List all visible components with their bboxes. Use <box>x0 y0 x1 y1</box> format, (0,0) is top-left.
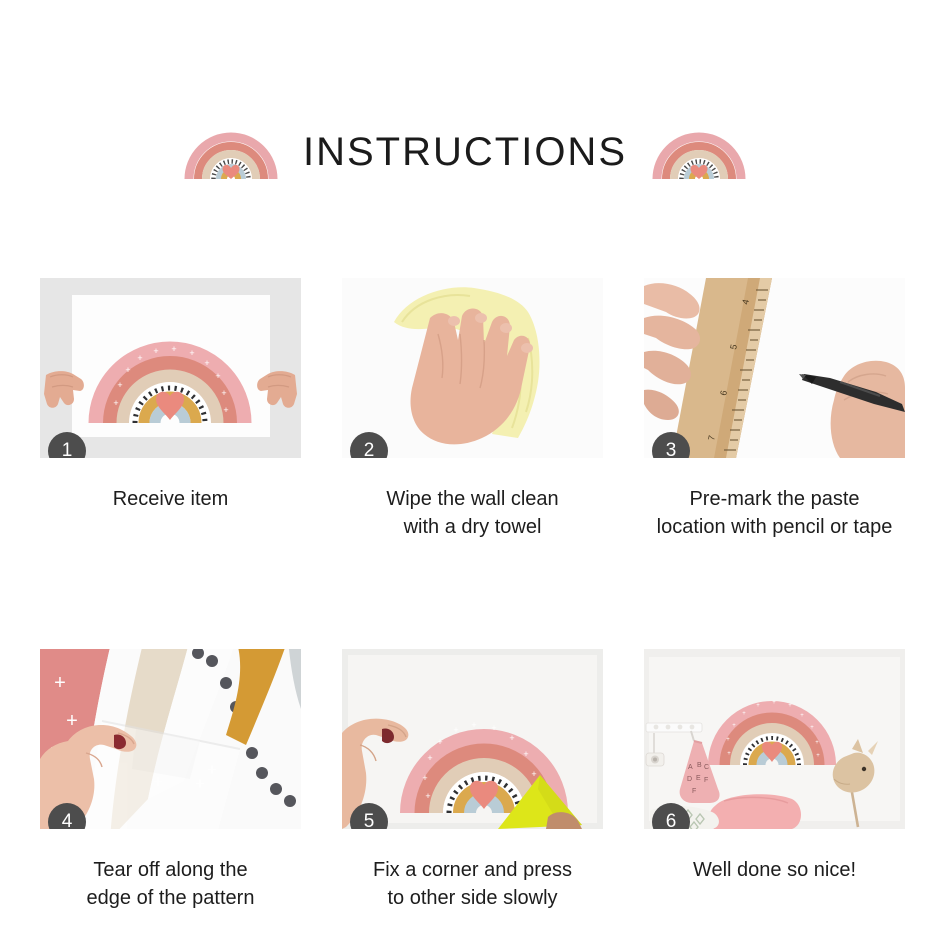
svg-text:+: + <box>207 760 217 779</box>
svg-text:+: + <box>137 353 142 363</box>
step-photo-4: ++ ++ <box>40 649 301 829</box>
step-card-5: ++ ++ ++ ++ ++ + <box>342 649 603 912</box>
svg-text:C: C <box>704 764 709 771</box>
svg-text:+: + <box>54 672 66 694</box>
svg-text:+: + <box>732 723 736 729</box>
step-caption-5: Fix a corner and press to other side slo… <box>342 856 603 912</box>
caption-line: to other side slowly <box>342 884 603 912</box>
svg-text:+: + <box>509 733 514 743</box>
svg-text:+: + <box>815 740 819 746</box>
step-photo-2: 2 <box>342 278 603 458</box>
svg-text:+: + <box>727 751 731 757</box>
svg-text:+: + <box>523 749 528 759</box>
svg-text:+: + <box>772 700 776 706</box>
svg-text:+: + <box>171 344 176 354</box>
svg-text:+: + <box>810 725 814 731</box>
rainbow-icon <box>183 123 279 181</box>
svg-text:+: + <box>113 398 118 408</box>
step-card-2: 2 Wipe the wall clean with a dry towel <box>342 278 603 541</box>
svg-text:+: + <box>221 388 226 398</box>
step-caption-3: Pre-mark the paste location with pencil … <box>644 485 905 541</box>
caption-line: Fix a corner and press <box>342 856 603 884</box>
caption-line: Pre-mark the paste <box>644 485 905 513</box>
svg-text:+: + <box>756 703 760 709</box>
svg-text:+: + <box>425 791 430 801</box>
caption-line: Receive item <box>40 485 301 513</box>
svg-text:+: + <box>204 358 209 368</box>
step-card-6: ++ ++ ++ ++ ++ + <box>644 649 905 912</box>
svg-text:+: + <box>742 711 746 717</box>
svg-text:+: + <box>117 380 122 390</box>
svg-text:+: + <box>816 753 820 759</box>
caption-line: Well done so nice! <box>644 856 905 884</box>
svg-text:+: + <box>195 774 205 793</box>
page-title: INSTRUCTIONS <box>303 130 627 175</box>
step-caption-6: Well done so nice! <box>644 856 905 884</box>
row-spacer <box>40 541 905 649</box>
caption-line: Wipe the wall clean <box>342 485 603 513</box>
step-caption-2: Wipe the wall clean with a dry towel <box>342 485 603 541</box>
step-card-4: ++ ++ <box>40 649 301 912</box>
page-header: INSTRUCTIONS <box>0 112 930 192</box>
step-caption-4: Tear off along the edge of the pattern <box>40 856 301 912</box>
svg-text:+: + <box>223 405 228 415</box>
caption-line: location with pencil or tape <box>644 513 905 541</box>
svg-text:+: + <box>531 769 536 779</box>
caption-line: with a dry towel <box>342 513 603 541</box>
step-photo-1: ++ ++ ++ ++ ++ + <box>40 278 301 458</box>
svg-text:+: + <box>422 773 427 783</box>
svg-text:+: + <box>66 710 78 732</box>
step-card-1: ++ ++ ++ ++ ++ + <box>40 278 301 541</box>
svg-text:+: + <box>437 737 442 747</box>
svg-text:D: D <box>687 776 692 783</box>
svg-text:+: + <box>153 346 158 356</box>
svg-text:+: + <box>125 365 130 375</box>
svg-text:B: B <box>697 762 702 769</box>
svg-text:F: F <box>704 777 708 784</box>
steps-grid: ++ ++ ++ ++ ++ + <box>40 278 906 912</box>
svg-text:+: + <box>491 723 496 733</box>
svg-text:+: + <box>471 720 476 730</box>
step-card-3: 4 5 6 7 <box>644 278 905 541</box>
caption-line: edge of the pattern <box>40 884 301 912</box>
svg-text:A: A <box>688 764 693 771</box>
svg-text:+: + <box>153 772 163 791</box>
svg-text:+: + <box>453 725 458 735</box>
step-photo-3: 4 5 6 7 <box>644 278 905 458</box>
svg-text:+: + <box>215 371 220 381</box>
svg-text:E: E <box>696 775 701 782</box>
step-photo-6: ++ ++ ++ ++ ++ + <box>644 649 905 829</box>
step-photo-5: ++ ++ ++ ++ ++ + <box>342 649 603 829</box>
rainbow-icon <box>651 123 747 181</box>
svg-text:+: + <box>788 703 792 709</box>
caption-line: Tear off along the <box>40 856 301 884</box>
svg-text:+: + <box>427 753 432 763</box>
svg-text:+: + <box>189 348 194 358</box>
step-caption-1: Receive item <box>40 485 301 513</box>
svg-text:F: F <box>692 788 696 795</box>
svg-text:+: + <box>726 737 730 743</box>
svg-text:+: + <box>800 713 804 719</box>
